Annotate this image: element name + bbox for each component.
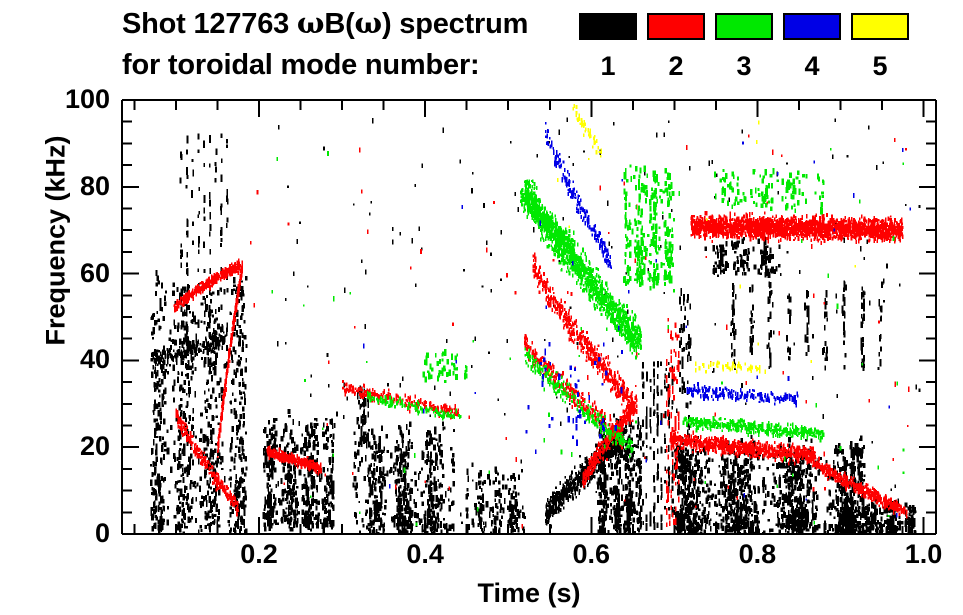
y-tick-label-80: 80 <box>80 173 110 200</box>
figure-root: Shot 127763 ωB(ω) spectrum for toroidal … <box>0 0 963 615</box>
legend: 12345 <box>579 13 919 91</box>
legend-label-n2: 2 <box>647 51 705 81</box>
legend-swatch-n2 <box>647 13 705 40</box>
legend-swatch-n1 <box>579 13 637 40</box>
spectrogram-canvas <box>122 100 936 534</box>
spectrogram-series-n4 <box>363 122 911 518</box>
legend-swatch-n5 <box>851 13 909 40</box>
title-spectrum-text: ) spectrum <box>382 8 528 40</box>
y-tick-label-40: 40 <box>80 346 110 373</box>
legend-label-n3: 3 <box>715 51 773 81</box>
legend-item-n1[interactable]: 1 <box>579 13 637 81</box>
plot-area <box>122 100 936 534</box>
x-axis-label: Time (s) <box>122 578 936 609</box>
legend-label-n4: 4 <box>783 51 841 81</box>
legend-swatch-n4 <box>783 13 841 40</box>
legend-label-n1: 1 <box>579 51 637 81</box>
legend-item-n3[interactable]: 3 <box>715 13 773 81</box>
y-axis-tick-labels: 020406080100 <box>0 0 110 615</box>
legend-item-n4[interactable]: 4 <box>783 13 841 81</box>
legend-label-n5: 5 <box>851 51 909 81</box>
y-tick-label-20: 20 <box>80 433 110 460</box>
title-shot-text: Shot 127763 <box>122 8 297 40</box>
legend-item-n5[interactable]: 5 <box>851 13 909 81</box>
chart-title-line-2: for toroidal mode number: <box>122 49 480 82</box>
legend-swatch-n3 <box>715 13 773 40</box>
spectrogram-series-n1 <box>150 117 920 534</box>
y-tick-label-60: 60 <box>80 260 110 287</box>
legend-item-n2[interactable]: 2 <box>647 13 705 81</box>
omega-symbol-2: ω <box>355 6 382 40</box>
chart-title-line-1: Shot 127763 ωB(ω) spectrum <box>122 6 528 41</box>
title-b-open: B( <box>324 8 354 40</box>
y-tick-label-100: 100 <box>65 86 110 113</box>
omega-symbol-1: ω <box>297 6 324 40</box>
